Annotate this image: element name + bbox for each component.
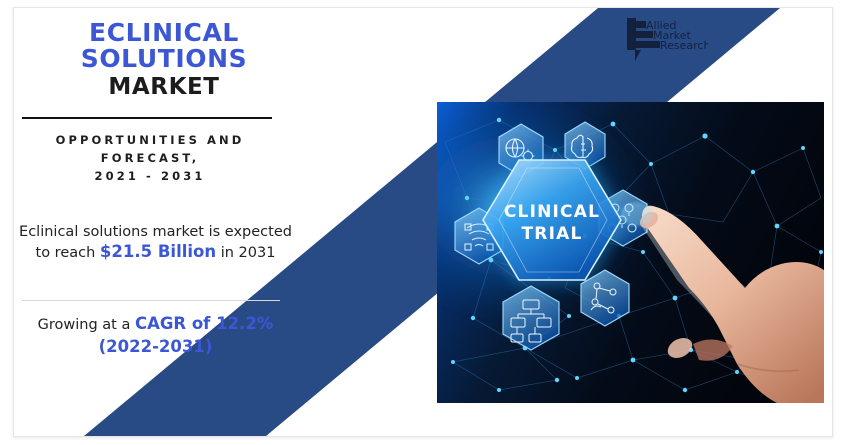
left-content-column: ECLINICAL SOLUTIONS MARKET OPPORTUNITIES… (14, 8, 314, 436)
title-line-2: SOLUTIONS (14, 46, 314, 72)
divider-strong (22, 117, 272, 119)
divider-light (22, 300, 280, 301)
cagr-period: (2022-2031) (99, 337, 213, 356)
subtitle: OPPORTUNITIES AND FORECAST, 2021 - 2031 (14, 131, 286, 185)
market-size-statement: Eclinical solutions market is expected t… (14, 223, 297, 263)
title-line-1: ECLINICAL (14, 20, 314, 46)
hex-label-line2: TRIAL (521, 224, 582, 244)
subtitle-line-1: OPPORTUNITIES AND (14, 131, 286, 149)
cagr-prefix: Growing at a (38, 317, 135, 333)
page-title: ECLINICAL SOLUTIONS MARKET (14, 20, 314, 101)
allied-market-research-logo: Allied Market Research (626, 17, 708, 63)
subtitle-line-2: FORECAST, (14, 149, 286, 167)
cagr-statement: Growing at a CAGR of 12.2%(2022-2031) (14, 313, 297, 359)
title-line-3: MARKET (14, 74, 314, 101)
infographic-canvas: Allied Market Research (0, 0, 847, 445)
subtitle-line-3: 2021 - 2031 (14, 167, 286, 185)
hex-label-line1: CLINICAL (504, 202, 600, 222)
market-size-value: $21.5 Billion (100, 242, 216, 261)
hero-image: CLINICAL TRIAL (437, 102, 824, 403)
cagr-value: CAGR of 12.2% (135, 314, 273, 333)
logo-text-line3: Research (660, 39, 708, 52)
market-size-suffix: in 2031 (216, 245, 275, 261)
